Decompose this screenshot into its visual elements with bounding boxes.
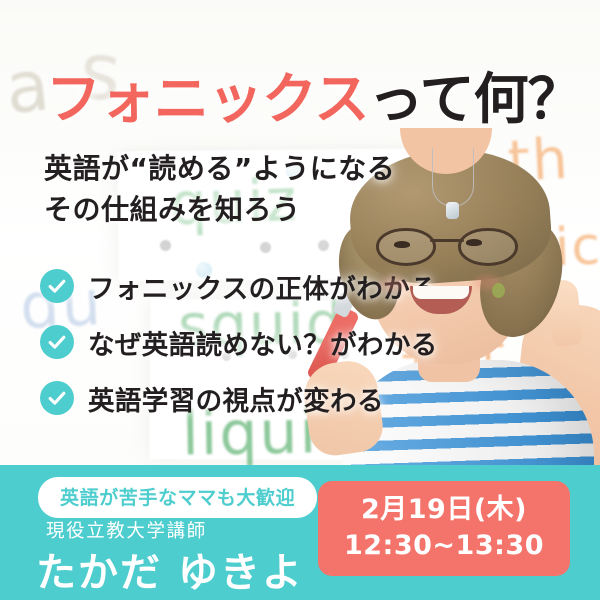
eye: [466, 239, 482, 246]
footer-bar: 英語が苦手なママも大歓迎 現役立教大学講師 たかだ ゆきよ 2月19日(木) 1…: [0, 465, 600, 600]
glasses-bridge: [430, 239, 464, 242]
list-item-label: なぜ英語読めない？がわかる: [88, 323, 438, 362]
headline: フォニックスって何？: [46, 54, 582, 134]
welcome-badge: 英語が苦手なママも大歓迎: [38, 477, 317, 518]
necklace-pendant: [446, 202, 459, 219]
eye: [394, 241, 410, 248]
list-item: なぜ英語読めない？がわかる: [40, 314, 438, 370]
banner-content: フォニックスって何？ 英語が“読める”ようになる その仕組みを知ろう フォニック…: [0, 0, 600, 600]
necklace: [432, 148, 474, 207]
check-circle-icon: [40, 269, 74, 303]
headline-rest: って何？: [368, 67, 581, 131]
earring: [492, 283, 505, 298]
event-date: 2月19日(木): [344, 492, 544, 528]
speaker-name: たかだ ゆきよ: [36, 540, 304, 598]
list-item: フォニックスの正体がわかる: [40, 258, 438, 314]
headline-accent: フォニックス: [46, 67, 368, 131]
benefit-list: フォニックスの正体がわかる なぜ英語読めない？がわかる 英語学習の視点が変わる: [40, 258, 438, 426]
date-time-box: 2月19日(木) 12:30~13:30: [318, 481, 570, 576]
subtitle-line-2: その仕組みを知ろう: [44, 189, 395, 230]
teeth: [413, 286, 469, 299]
lens-right: [458, 228, 518, 266]
list-item: 英語学習の視点が変わる: [40, 370, 438, 426]
promo-banner: a s qu quiz squid liquid th nic + +: [0, 0, 600, 600]
check-circle-icon: [40, 381, 74, 415]
check-circle-icon: [40, 325, 74, 359]
subtitle: 英語が“読める”ようになる その仕組みを知ろう: [44, 148, 395, 231]
event-time: 12:30~13:30: [344, 528, 544, 564]
list-item-label: 英語学習の視点が変わる: [88, 379, 384, 418]
subtitle-line-1: 英語が“読める”ようになる: [44, 148, 395, 189]
cheek: [380, 277, 406, 292]
